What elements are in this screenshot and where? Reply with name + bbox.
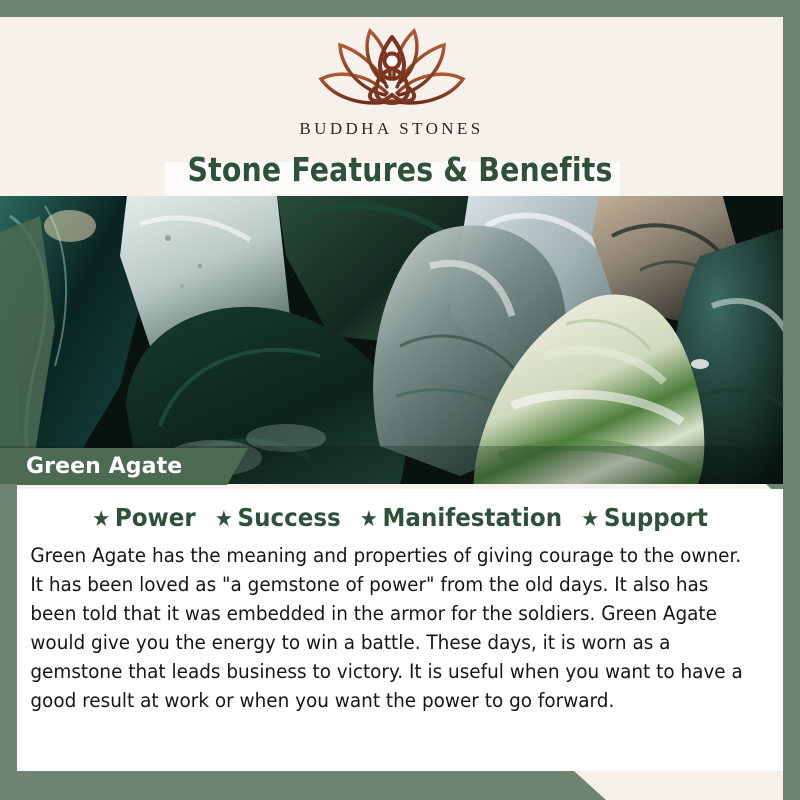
star-icon: ★ [360,507,378,532]
benefit-item: ★Support [581,503,708,532]
benefit-label: Manifestation [383,503,563,532]
benefit-item: ★Success [215,503,341,532]
lotus-meditation-figure-icon [307,23,477,115]
brand-logo: BUDDHA STONES [0,23,783,139]
benefit-label: Support [604,503,708,532]
content-panel: ★Power ★Success ★Manifestation ★Support … [17,489,783,771]
bottom-frame-band [0,771,606,800]
green-agate-photo [0,196,783,484]
benefits-row: ★Power ★Success ★Manifestation ★Support [48,489,753,532]
benefit-item: ★Manifestation [360,503,562,532]
benefit-item: ★Power [92,503,196,532]
star-icon: ★ [581,507,599,532]
brand-name: BUDDHA STONES [299,119,483,139]
page-title: Stone Features & Benefits [56,146,744,194]
stone-name-label: Green Agate [26,454,182,479]
left-frame-edge [0,484,17,784]
star-icon: ★ [215,507,233,532]
benefit-label: Success [238,503,341,532]
stones-illustration [0,196,783,484]
star-icon: ★ [92,507,110,532]
infographic-card: BUDDHA STONES Stone Features & Benefits [0,0,800,800]
stone-name-badge: Green Agate [0,448,248,485]
benefit-label: Power [115,503,196,532]
description-text: Green Agate has the meaning and properti… [17,532,771,715]
